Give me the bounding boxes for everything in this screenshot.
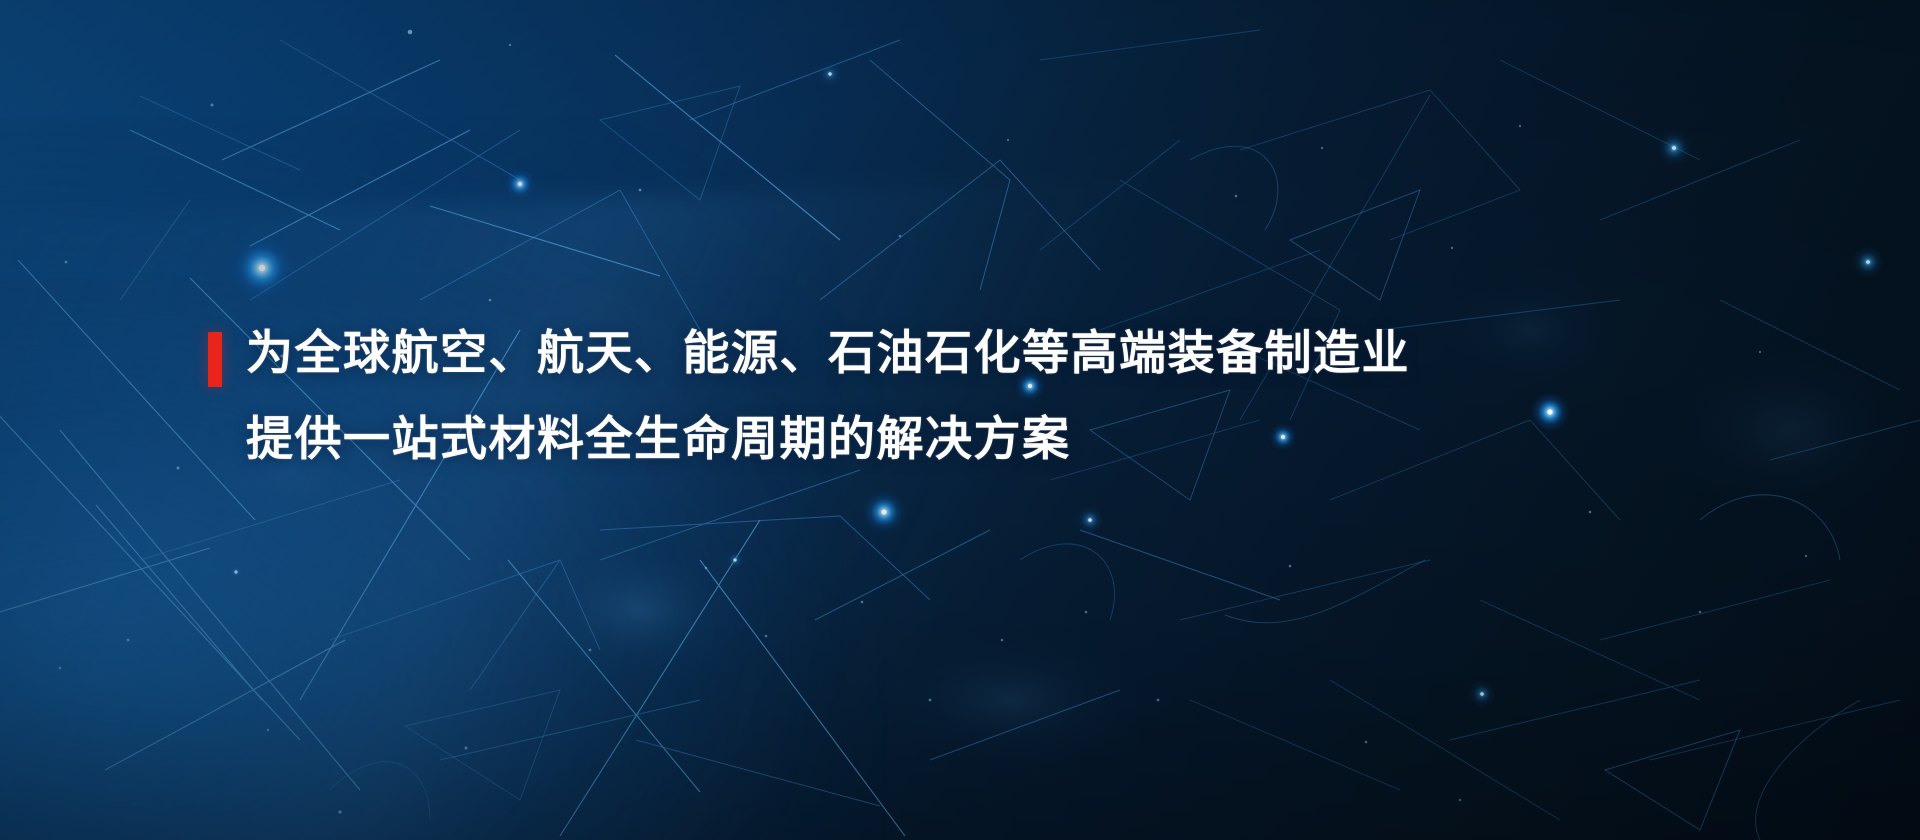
headline-line-2: 提供一站式材料全生命周期的解决方案 [246,396,1410,482]
headline-block: 为全球航空、航天、能源、石油石化等高端装备制造业 提供一站式材料全生命周期的解决… [208,310,1808,482]
headline-text: 为全球航空、航天、能源、石油石化等高端装备制造业 提供一站式材料全生命周期的解决… [246,310,1410,482]
red-accent-bar [208,332,222,387]
headline-line-1: 为全球航空、航天、能源、石油石化等高端装备制造业 [246,310,1410,396]
hero-banner: 为全球航空、航天、能源、石油石化等高端装备制造业 提供一站式材料全生命周期的解决… [0,0,1920,840]
